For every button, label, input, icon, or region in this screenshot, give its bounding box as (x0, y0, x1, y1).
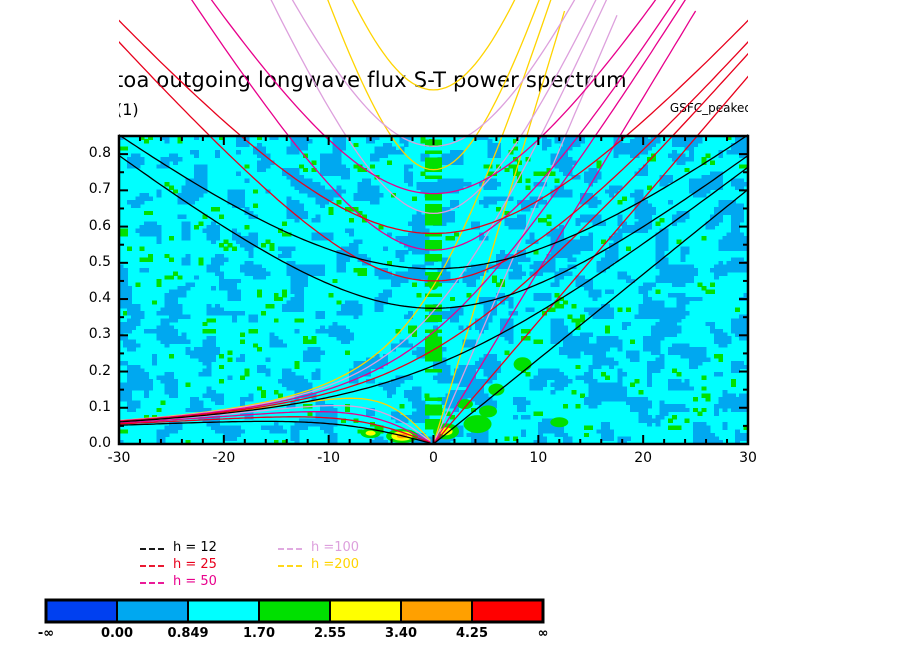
y-tick-label: 0.5 (57, 254, 111, 270)
colorbar-tick-label: ∞ (508, 626, 578, 641)
y-tick-label: 0.2 (57, 363, 111, 379)
x-tick-label: -30 (89, 450, 149, 466)
x-tick-label: -10 (299, 450, 359, 466)
colorbar-tick-label: -∞ (11, 626, 81, 641)
figure-canvas: toa outgoing longwave flux S-T power spe… (0, 0, 904, 654)
x-tick-label: -20 (194, 450, 254, 466)
colorbar-tick-label: 2.55 (295, 626, 365, 641)
y-tick-label: 0.0 (57, 435, 111, 451)
legend-item-label: h =100 (311, 540, 359, 555)
x-tick-label: 30 (718, 450, 778, 466)
y-tick-label: 0.3 (57, 326, 111, 342)
y-tick-label: 0.6 (57, 218, 111, 234)
colorbar-tick-label: 3.40 (366, 626, 436, 641)
legend-item-label: h = 12 (173, 540, 217, 555)
colorbar-tick-label: 0.00 (82, 626, 152, 641)
colorbar-tick-label: 0.849 (153, 626, 223, 641)
y-tick-label: 0.1 (57, 399, 111, 415)
legend-item-label: h = 25 (173, 557, 217, 572)
y-tick-label: 0.4 (57, 290, 111, 306)
x-tick-label: 10 (508, 450, 568, 466)
y-tick-label: 0.7 (57, 181, 111, 197)
x-tick-label: 20 (613, 450, 673, 466)
colorbar-tick-label: 4.25 (437, 626, 507, 641)
legend-item-label: h =200 (311, 557, 359, 572)
colorbar (0, 0, 904, 654)
colorbar-tick-label: 1.70 (224, 626, 294, 641)
y-tick-label: 0.8 (57, 145, 111, 161)
legend-item-label: h = 50 (173, 574, 217, 589)
x-tick-label: 0 (404, 450, 464, 466)
